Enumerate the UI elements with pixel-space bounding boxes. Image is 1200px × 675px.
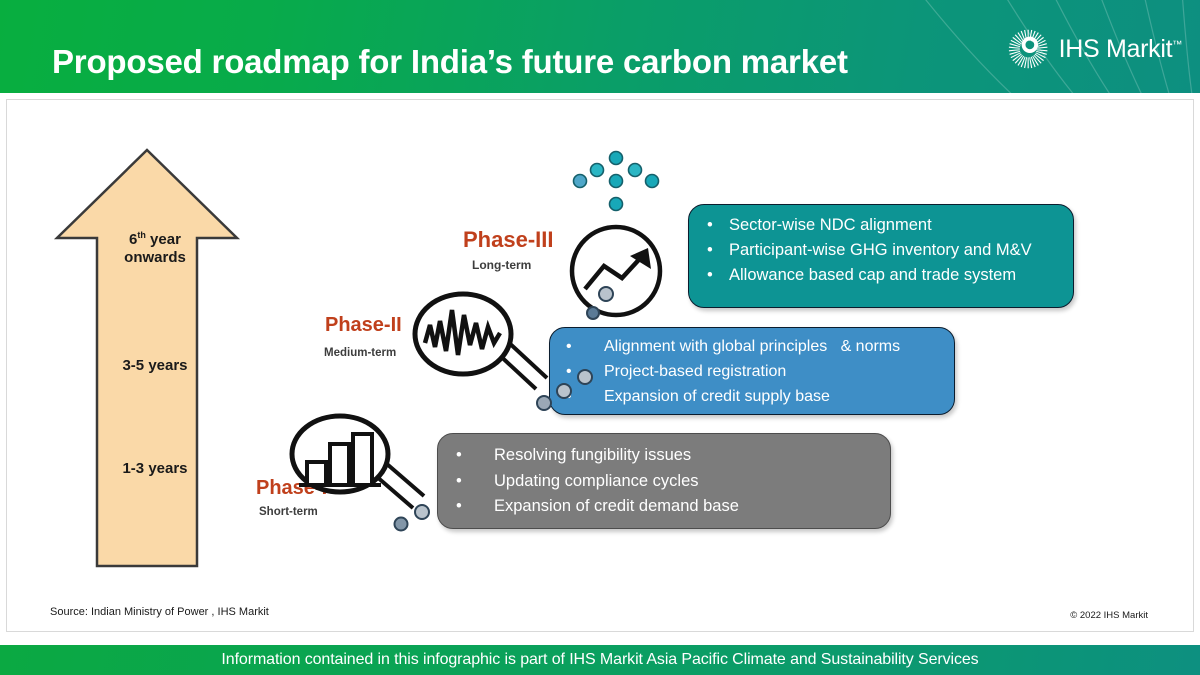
phase-3-item-1: Participant-wise GHG inventory and M&V	[729, 242, 1032, 259]
phase-2-title: Phase-II	[325, 314, 402, 337]
connector-dot-trail-lower	[385, 500, 445, 540]
bullet-icon: •	[456, 447, 494, 464]
connector-dot-trail-middle	[492, 285, 622, 415]
arrow-label-phase1-duration: 1-3 years	[90, 460, 220, 478]
logo-wordmark-text: IHS Markit	[1059, 35, 1173, 63]
phase-3-item-0: Sector-wise NDC alignment	[729, 217, 932, 234]
slide-footer: Information contained in this infographi…	[0, 645, 1200, 675]
phase-3-content-box: •Sector-wise NDC alignment •Participant-…	[688, 204, 1074, 308]
sunburst-logo-icon	[1008, 28, 1050, 70]
footer-text: Information contained in this infographi…	[0, 651, 1200, 669]
arrow-label-phase2-duration: 3-5 years	[90, 357, 220, 375]
slide-header: Proposed roadmap for India’s future carb…	[0, 0, 1200, 93]
arrow-label-0-line2: onwards	[124, 249, 186, 266]
phase-3-subtitle: Long-term	[472, 258, 531, 272]
phase-2-subtitle: Medium-term	[324, 347, 396, 359]
list-item: •Allowance based cap and trade system	[707, 267, 1051, 284]
bullet-icon: •	[456, 498, 494, 515]
timeline-arrow: 6th year onwards 3-5 years 1-3 years	[52, 142, 242, 574]
phase-1-content-box: •Resolving fungibility issues •Updating …	[437, 433, 891, 529]
phase-3-title: Phase-III	[463, 227, 553, 253]
source-note: Source: Indian Ministry of Power , IHS M…	[50, 606, 269, 618]
logo-wordmark: IHS Markit™	[1059, 35, 1182, 64]
phase-2-item-1: Project-based registration	[604, 364, 786, 380]
arrow-label-0-line1b: year	[146, 231, 181, 248]
phase-3-item-2: Allowance based cap and trade system	[729, 267, 1016, 284]
arrow-label-0-sup: th	[137, 230, 146, 240]
trademark-icon: ™	[1172, 39, 1182, 50]
phase-1-item-0: Resolving fungibility issues	[494, 447, 691, 464]
phase-2-item-0: Alignment with global principles & norms	[604, 339, 900, 355]
list-item: •Sector-wise NDC alignment	[707, 217, 1051, 234]
list-item: •Resolving fungibility issues	[456, 447, 870, 464]
bullet-icon: •	[707, 242, 729, 259]
list-item: •Participant-wise GHG inventory and M&V	[707, 242, 1051, 259]
slide-root: Proposed roadmap for India’s future carb…	[0, 0, 1200, 675]
bullet-icon: •	[707, 267, 729, 284]
phase-1-item-2: Expansion of credit demand base	[494, 498, 739, 515]
phase-2-item-2: Expansion of credit supply base	[604, 389, 830, 405]
phase-1-item-1: Updating compliance cycles	[494, 473, 699, 490]
phase-3-bullet-list: •Sector-wise NDC alignment •Participant-…	[707, 217, 1051, 284]
bullet-icon: •	[707, 217, 729, 234]
list-item: •Expansion of credit demand base	[456, 498, 870, 515]
page-title: Proposed roadmap for India’s future carb…	[52, 43, 848, 81]
phase-1-bullet-list: •Resolving fungibility issues •Updating …	[456, 447, 870, 515]
arrow-label-phase3-duration: 6th year onwards	[90, 230, 220, 266]
ihs-markit-logo: IHS Markit™	[1008, 28, 1182, 70]
copyright-note: © 2022 IHS Markit	[1070, 610, 1148, 621]
list-item: •Updating compliance cycles	[456, 473, 870, 490]
bullet-icon: •	[456, 473, 494, 490]
